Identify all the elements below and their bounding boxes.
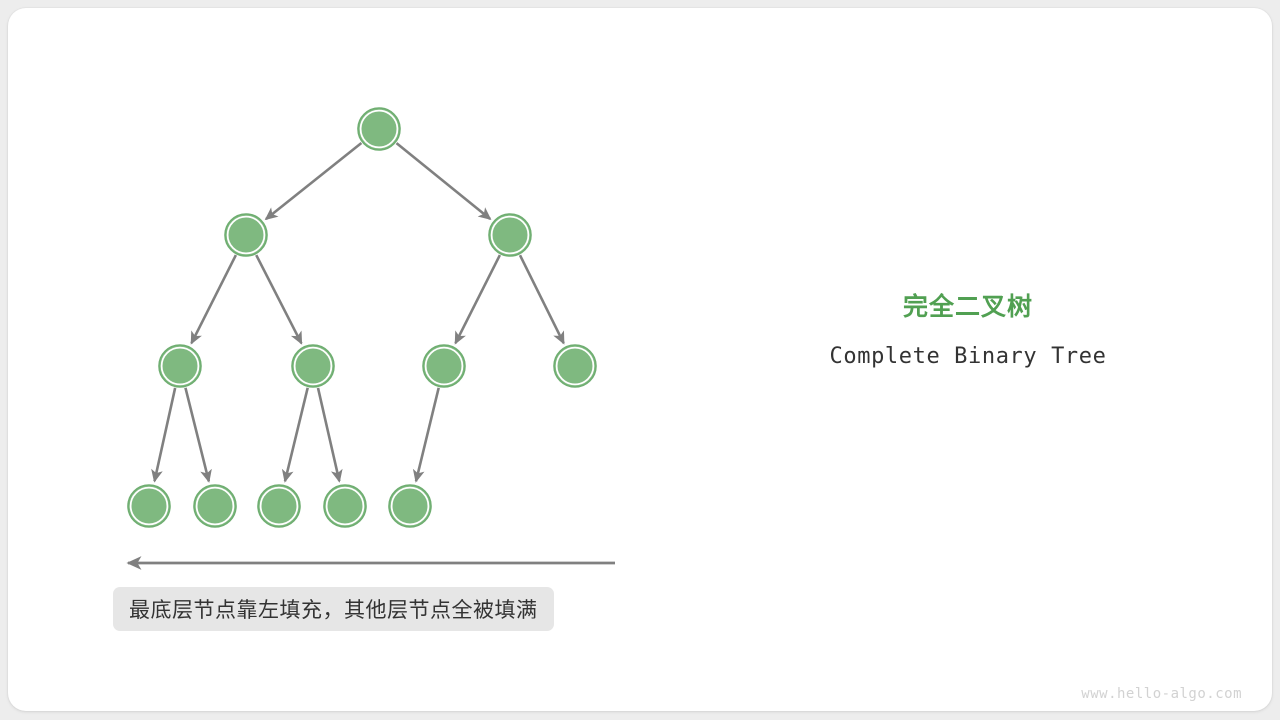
diagram-subtitle: Complete Binary Tree: [768, 344, 1168, 369]
legend-block: 完全二叉树 Complete Binary Tree: [768, 292, 1168, 369]
diagram-title: 完全二叉树: [768, 292, 1168, 322]
site-watermark: www.hello-algo.com: [1081, 686, 1242, 702]
caption-chip: 最底层节点靠左填充，其他层节点全被填满: [113, 587, 554, 631]
caption-text: 最底层节点靠左填充，其他层节点全被填满: [129, 594, 538, 624]
diagram-canvas: 完全二叉树 Complete Binary Tree 最底层节点靠左填充，其他层…: [0, 0, 1280, 720]
